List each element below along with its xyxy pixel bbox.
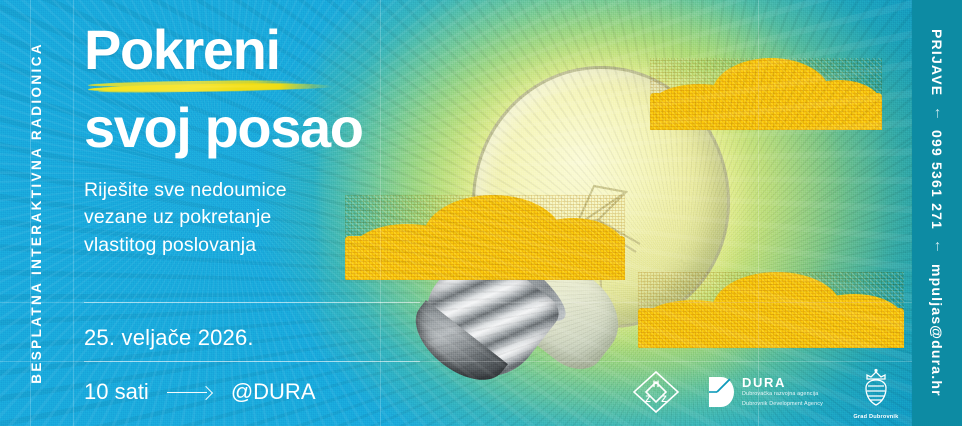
yellow-brush-underline [88, 81, 333, 94]
event-location: @DURA [231, 379, 316, 405]
event-time-location: 10 sati @DURA [84, 379, 316, 405]
dubrovnik-crest-icon [849, 368, 903, 408]
city-logo-caption: Grad Dubrovnik [849, 414, 903, 420]
event-date: 25. veljače 2026. [84, 325, 254, 351]
dura-logo: DURA Dubrovačka razvojna agencija Dubrov… [708, 376, 823, 409]
content-block: Pokreni svoj posao Riješite sve nedoumic… [84, 0, 504, 426]
arrow-down-icon-1: ↓ [933, 105, 941, 122]
event-time: 10 sati [84, 379, 149, 405]
svg-text:H: H [653, 379, 660, 389]
promo-poster: BESPLATNA INTERAKTIVNA RADIONICA PRIJAVE… [0, 0, 962, 426]
subtitle-text: Riješite sve nedoumice vezane uz pokreta… [84, 177, 504, 260]
logo-row: H Z Z DURA Dubrovačka razvojna agencija … [630, 368, 903, 416]
right-contact-panel: PRIJAVE ↓ 099 5361 271 ↓ mpuljas@dura.hr [912, 0, 962, 426]
right-panel-text: PRIJAVE ↓ 099 5361 271 ↓ mpuljas@dura.hr [929, 29, 946, 396]
dura-subtitle-hr: Dubrovačka razvojna agencija [742, 391, 823, 399]
svg-text:Z: Z [661, 394, 667, 404]
left-banner-text: BESPLATNA INTERAKTIVNA RADIONICA [29, 42, 44, 384]
divider-top [84, 302, 420, 303]
prijave-label: PRIJAVE [929, 29, 945, 96]
arrow-right-icon [167, 386, 213, 398]
headline-line-2: svoj posao [84, 94, 504, 155]
subtitle-line-1: Riješite sve nedoumice [84, 179, 287, 201]
dura-title: DURA [742, 376, 823, 389]
hzz-diamond-icon: H Z Z [630, 370, 682, 414]
svg-text:Z: Z [645, 394, 651, 404]
email-address[interactable]: mpuljas@dura.hr [929, 264, 945, 397]
dura-subtitle-en: Dubrovnik Development Agency [742, 401, 823, 409]
subtitle-line-2: vezane uz pokretanje [84, 206, 271, 228]
dura-text-block: DURA Dubrovačka razvojna agencija Dubrov… [742, 376, 823, 409]
dura-mark-icon [708, 376, 734, 408]
headline-line-1: Pokreni [84, 0, 504, 77]
arrow-down-icon-2: ↓ [933, 239, 941, 256]
subtitle-line-3: vlastitog poslovanja [84, 234, 256, 256]
left-vertical-banner: BESPLATNA INTERAKTIVNA RADIONICA [0, 0, 73, 426]
hzz-logo: H Z Z [630, 370, 682, 414]
phone-number[interactable]: 099 5361 271 [929, 130, 945, 230]
city-of-dubrovnik-logo: Grad Dubrovnik [849, 368, 903, 416]
divider-bottom [84, 361, 420, 362]
